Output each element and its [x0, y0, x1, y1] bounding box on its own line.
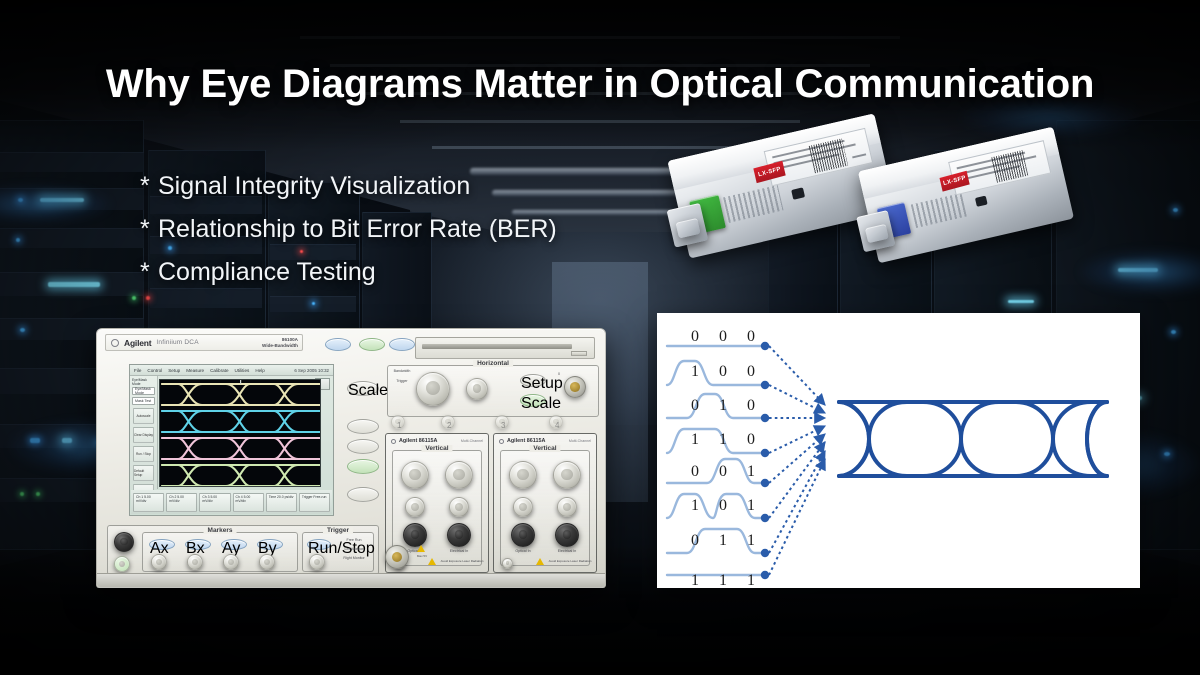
laser-warning-text: Avoid Exposure Laser Radiation — [546, 560, 594, 564]
softkey-ch2[interactable]: Ch 2 5.00 mV/div — [166, 493, 197, 512]
channel-3-indicator[interactable] — [495, 415, 509, 429]
eye-upper-arc-2 — [961, 402, 1053, 439]
bullet-marker: * — [140, 251, 158, 294]
arrow — [769, 426, 825, 453]
eye-diagram-plot — [159, 379, 321, 487]
module-b-ch4-scale-knob[interactable] — [553, 461, 581, 489]
laser-warning-text: Avoid Exposure Laser Radiation — [438, 560, 486, 564]
bullet-text: Compliance Testing — [158, 258, 376, 286]
marker-knob-ay[interactable] — [223, 554, 239, 570]
horizontal-panel: Horizontal Bandwidth Trigger Setup Scale… — [387, 365, 599, 417]
module-a-ch1-scale-knob[interactable] — [401, 461, 429, 489]
softkey-time[interactable]: Time 20.0 ps/div — [266, 493, 297, 512]
bullet-marker: * — [140, 208, 158, 251]
bullet-text: Relationship to Bit Error Rate (BER) — [158, 215, 557, 243]
marker-button-bx[interactable]: Bx — [185, 539, 211, 550]
sidebar-mode-combo[interactable]: Eye/Mask Mode — [132, 387, 155, 395]
module-b-vertical-panel: Vertical Optical In Electrical In — [500, 450, 590, 566]
trigger-sub-label-2: Left Monitor — [335, 547, 373, 551]
softkey-ch3[interactable]: Ch 3 5.00 mV/div — [199, 493, 230, 512]
waveform-endpoint-dots — [761, 342, 769, 579]
horizontal-scale-knob[interactable] — [466, 378, 488, 400]
model-label: 86100AWide-Bandwidth — [262, 337, 302, 348]
arrow — [769, 434, 825, 483]
module-a-ch1-offset-knob[interactable] — [405, 497, 425, 517]
trigger-run-stop-button[interactable]: Run/Stop — [307, 539, 331, 550]
bit-label: 0 — [719, 328, 727, 345]
marker-knob-by[interactable] — [259, 554, 275, 570]
bit-label: 0 — [719, 497, 727, 514]
menu-item-file[interactable]: File — [134, 368, 141, 373]
endpoint-dot — [761, 342, 769, 350]
eye-edge — [839, 402, 869, 476]
menu-item-control[interactable]: Control — [147, 368, 162, 373]
bit-label: 0 — [719, 463, 727, 480]
markers-trigger-panel: Markers Ax Bx Ay By Trigger Run/Stop Fre… — [107, 525, 379, 575]
module-a-vertical-label: Vertical — [421, 445, 452, 452]
module-b-port-1-label: Optical In — [505, 549, 541, 553]
side-button-clear-display[interactable] — [347, 487, 379, 502]
scope-menu-bar[interactable]: File Control Setup Measure Calibrate Uti… — [130, 365, 333, 376]
module-a-name: Agilent 86115A — [399, 438, 437, 444]
top-button-2[interactable] — [389, 338, 415, 351]
menu-item-setup[interactable]: Setup — [168, 368, 180, 373]
bnc-label: 0 — [554, 372, 564, 376]
bit-label: 1 — [747, 497, 755, 514]
scope-sidebar[interactable]: Eye/Mask Mode Eye/Mask Mode Mask Test Au… — [130, 376, 158, 489]
agilent-logo-icon — [391, 439, 396, 444]
endpoint-dot — [761, 449, 769, 457]
list-item: *Relationship to Bit Error Rate (BER) — [140, 208, 557, 251]
bit-label: 1 — [747, 532, 755, 549]
eye-lower-arc-1 — [869, 439, 961, 476]
module-a-ch2-offset-knob[interactable] — [449, 497, 469, 517]
bit-label: 1 — [691, 572, 699, 588]
horizontal-setup-button[interactable]: Setup — [520, 374, 546, 387]
bit-label: 1 — [747, 463, 755, 480]
marker-knob-ax[interactable] — [151, 554, 167, 570]
bit-label: 1 — [719, 431, 727, 448]
bit-label: 0 — [747, 363, 755, 380]
scope-brand-bar: Agilent Infiniium DCA 86100AWide-Bandwid… — [105, 334, 303, 351]
eye-diagram-panel: 0 0 0 1 0 0 0 1 0 1 1 0 0 0 1 1 0 1 0 1 — [657, 313, 1140, 588]
side-button-scale[interactable]: Scale — [347, 381, 379, 396]
endpoint-dot — [761, 381, 769, 389]
plugin-module-b: Agilent 86115A Multi-Channel Vertical Op… — [493, 433, 597, 573]
bnc-warning-text: Max 5V — [411, 555, 433, 559]
sidebar-button-run-stop[interactable]: Run / Stop — [133, 446, 154, 462]
side-button-autoscale[interactable] — [347, 459, 379, 474]
top-button-1[interactable] — [325, 338, 351, 351]
arrow — [769, 385, 825, 413]
channel-1-indicator[interactable] — [391, 415, 405, 429]
marker-button-by[interactable]: By — [257, 539, 283, 550]
module-b-port-2-label: Electrical In — [549, 549, 585, 553]
eye-diagram-figure: 0 0 0 1 0 0 0 1 0 1 1 0 0 0 1 1 0 1 0 1 — [657, 313, 1140, 588]
slide-canvas: Why Eye Diagrams Matter in Optical Commu… — [0, 0, 1200, 675]
markers-label: Markers — [204, 527, 237, 534]
channel-3-eye — [162, 438, 321, 459]
sidebar-mode-label: Eye/Mask Mode — [132, 378, 155, 386]
horizontal-scale-button[interactable]: Scale — [520, 394, 546, 407]
horizontal-sub-label-1: Bandwidth — [390, 369, 414, 373]
module-b-aux-1[interactable] — [502, 558, 513, 569]
module-a-port-2[interactable] — [447, 523, 471, 547]
floppy-eject-button[interactable] — [571, 351, 587, 356]
navigation-wheel[interactable] — [114, 532, 134, 552]
agilent-oscilloscope: Agilent Infiniium DCA 86100AWide-Bandwid… — [96, 328, 606, 588]
markers-group: Markers Ax Bx Ay By — [142, 532, 298, 572]
eye-lower-arc-2 — [961, 439, 1053, 476]
sidebar-button-clear-display[interactable]: Clear Display — [133, 427, 154, 443]
trigger-bnc-connector[interactable] — [564, 376, 586, 398]
sidebar-button-default-setup[interactable]: Default Setup — [133, 465, 154, 481]
horizontal-position-knob[interactable] — [416, 372, 450, 406]
bit-label: 0 — [747, 431, 755, 448]
endpoint-dot — [761, 479, 769, 487]
page-title: Why Eye Diagrams Matter in Optical Commu… — [0, 62, 1200, 107]
endpoint-dot — [761, 514, 769, 522]
eye-edge — [839, 402, 869, 476]
bullet-list: *Signal Integrity Visualization *Relatio… — [140, 165, 557, 294]
menu-item-help[interactable]: Help — [255, 368, 264, 373]
agilent-logo-icon — [111, 339, 119, 347]
marker-knob-bx[interactable] — [187, 554, 203, 570]
arrow — [769, 451, 825, 553]
menu-item-utilities[interactable]: Utilities — [235, 368, 250, 373]
channel-4-indicator[interactable] — [549, 415, 563, 429]
laser-warning-icon — [428, 558, 436, 565]
module-b-name: Agilent 86115A — [507, 438, 545, 444]
trigger-label: Trigger — [323, 527, 353, 534]
arrow — [769, 459, 825, 575]
endpoint-dot — [761, 549, 769, 557]
trigger-sub-label-1: Free Run — [335, 538, 373, 542]
agilent-logo-icon — [499, 439, 504, 444]
side-button-define-measure[interactable] — [347, 419, 379, 434]
bit-label: 1 — [691, 497, 699, 514]
bit-label: 0 — [691, 463, 699, 480]
bit-label: 1 — [691, 431, 699, 448]
trigger-group: Trigger Run/Stop Free Run Left Monitor R… — [302, 532, 374, 572]
floppy-drive[interactable] — [415, 337, 595, 359]
bit-label: 0 — [691, 397, 699, 414]
module-a-ch2-scale-knob[interactable] — [445, 461, 473, 489]
bit-label: 1 — [719, 397, 727, 414]
module-b-port-2[interactable] — [555, 523, 579, 547]
bullet-text: Signal Integrity Visualization — [158, 172, 470, 200]
module-a-port-2-label: Electrical In — [441, 549, 477, 553]
channel-2-indicator[interactable] — [441, 415, 455, 429]
power-button[interactable] — [359, 338, 385, 351]
trigger-sub-label-3: Right Monitor — [335, 556, 373, 560]
laser-warning-icon — [417, 545, 425, 552]
bit-label: 1 — [719, 572, 727, 588]
product-label: Infiniium DCA — [156, 339, 198, 346]
list-item: *Compliance Testing — [140, 251, 557, 294]
bit-label: 0 — [747, 397, 755, 414]
bit-label: 0 — [719, 363, 727, 380]
screen-status-time: 6 Sep 2005 10:32 — [294, 368, 333, 373]
sidebar-masktest-combo[interactable]: Mask Test — [132, 397, 155, 405]
marker-button-ax[interactable]: Ax — [149, 539, 175, 550]
endpoint-dot — [761, 571, 769, 579]
floppy-slot — [422, 344, 572, 349]
eye-right-edge — [1087, 402, 1107, 476]
scope-display[interactable]: File Control Setup Measure Calibrate Uti… — [129, 364, 334, 516]
bit-label: 1 — [719, 532, 727, 549]
scope-eye-traces — [160, 380, 321, 487]
arrow — [769, 346, 825, 405]
laser-warning-icon — [536, 558, 544, 565]
eye-upper-arc-1 — [869, 402, 961, 439]
scope-softkey-row[interactable]: Ch 1 5.00 mV/div Ch 2 5.00 mV/div Ch 3 5… — [131, 490, 332, 514]
channel-4-eye — [162, 465, 321, 486]
menu-item-measure[interactable]: Measure — [186, 368, 204, 373]
trigger-level-knob[interactable] — [309, 554, 325, 570]
composite-eye-diagram — [839, 402, 1107, 476]
softkey-ch1[interactable]: Ch 1 5.00 mV/div — [133, 493, 164, 512]
convergence-arrows — [769, 346, 825, 575]
horizontal-sub-label-2: Trigger — [390, 379, 414, 383]
module-a-port-1[interactable] — [403, 523, 427, 547]
bit-label: 0 — [747, 328, 755, 345]
module-b-serial: Multi-Channel — [569, 439, 594, 443]
channel-2-eye — [162, 411, 321, 432]
bit-label: 0 — [691, 532, 699, 549]
module-b-ch3-scale-knob[interactable] — [509, 461, 537, 489]
trigger-marker — [240, 380, 241, 384]
module-a-serial: Multi-Channel — [461, 439, 486, 443]
brand-label: Agilent — [124, 338, 151, 348]
module-b-ch3-offset-knob[interactable] — [513, 497, 533, 517]
side-button-setup[interactable] — [347, 439, 379, 454]
trigger-input-bnc[interactable] — [385, 545, 409, 569]
sidebar-button-autoscale[interactable]: Autoscale — [133, 408, 154, 424]
horizontal-label: Horizontal — [473, 360, 513, 367]
softkey-trigger[interactable]: Trigger Free-run — [299, 493, 330, 512]
bullet-marker: * — [140, 165, 158, 208]
module-b-vertical-label: Vertical — [529, 445, 560, 452]
eye-right-edge — [1087, 402, 1107, 476]
list-item: *Signal Integrity Visualization — [140, 165, 557, 208]
bit-label: 1 — [747, 572, 755, 588]
marker-button-ay[interactable]: Ay — [221, 539, 247, 550]
softkey-ch4[interactable]: Ch 4 5.00 mV/div — [233, 493, 264, 512]
bit-label: 1 — [691, 363, 699, 380]
power-indicator[interactable] — [114, 556, 130, 572]
menu-item-calibrate[interactable]: Calibrate — [210, 368, 228, 373]
module-b-port-1[interactable] — [511, 523, 535, 547]
endpoint-dot — [761, 414, 769, 422]
scope-base — [97, 573, 605, 587]
module-b-ch4-offset-knob[interactable] — [557, 497, 577, 517]
channel-1-eye — [162, 384, 321, 405]
bit-label: 0 — [691, 328, 699, 345]
arrow — [769, 442, 825, 518]
